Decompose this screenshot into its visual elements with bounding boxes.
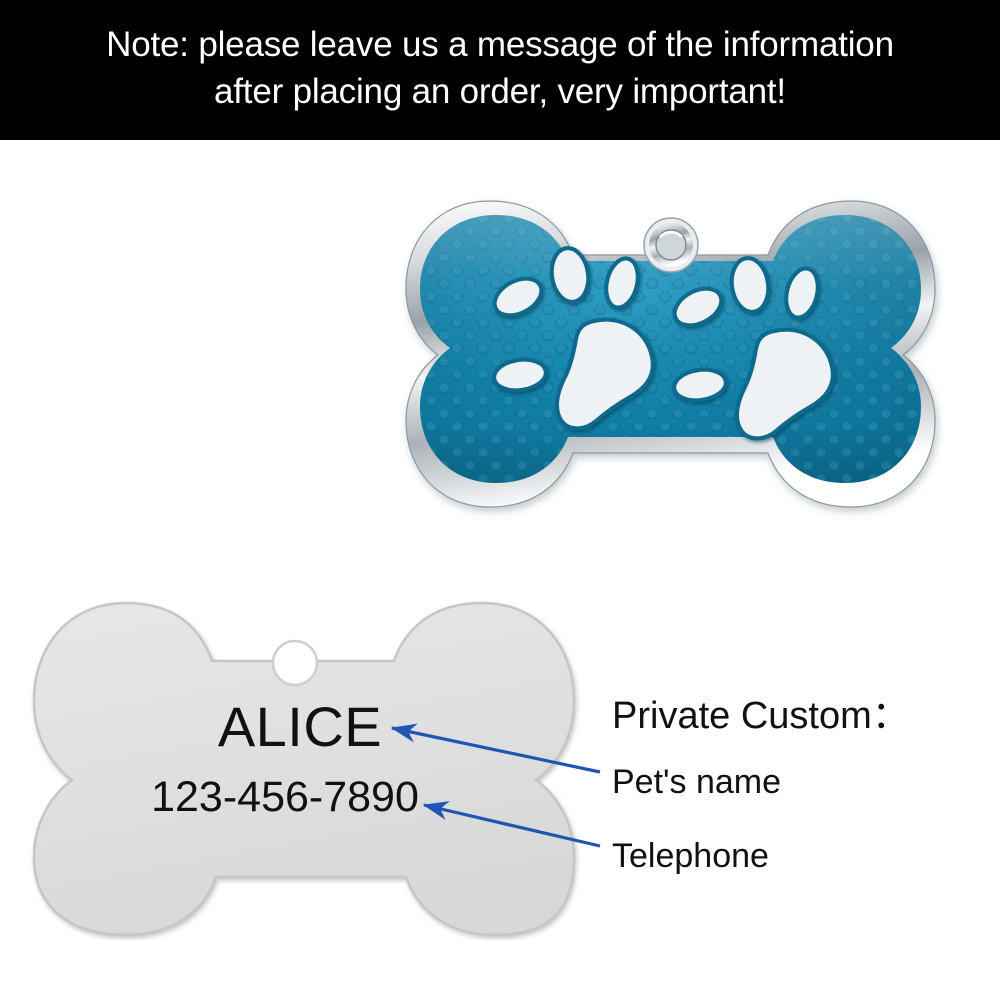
- gray-tag-hole: [273, 641, 317, 685]
- engraved-telephone: 123-456-7890: [0, 773, 570, 821]
- note-banner-line-1: Note: please leave us a message of the i…: [106, 21, 894, 68]
- gray-bone-tag-graphic: [22, 585, 582, 940]
- blue-bone-tag: [398, 185, 943, 530]
- annotation-pet-name: Pet's name: [612, 761, 781, 803]
- note-banner: Note: please leave us a message of the i…: [0, 0, 1000, 140]
- annotation-telephone: Telephone: [612, 835, 769, 877]
- blue-tag-hole: [644, 218, 698, 272]
- note-banner-line-2: after placing an order, very important!: [214, 68, 786, 115]
- annotation-title: Private Custom：: [612, 693, 982, 739]
- product-image-canvas: Note: please leave us a message of the i…: [0, 0, 1000, 1000]
- blue-bone-tag-graphic: [398, 185, 943, 530]
- engraved-pet-name: ALICE: [0, 697, 600, 757]
- annotation-block: Private Custom： Pet's name Telephone: [612, 693, 982, 739]
- gray-bone-tag: [22, 585, 582, 940]
